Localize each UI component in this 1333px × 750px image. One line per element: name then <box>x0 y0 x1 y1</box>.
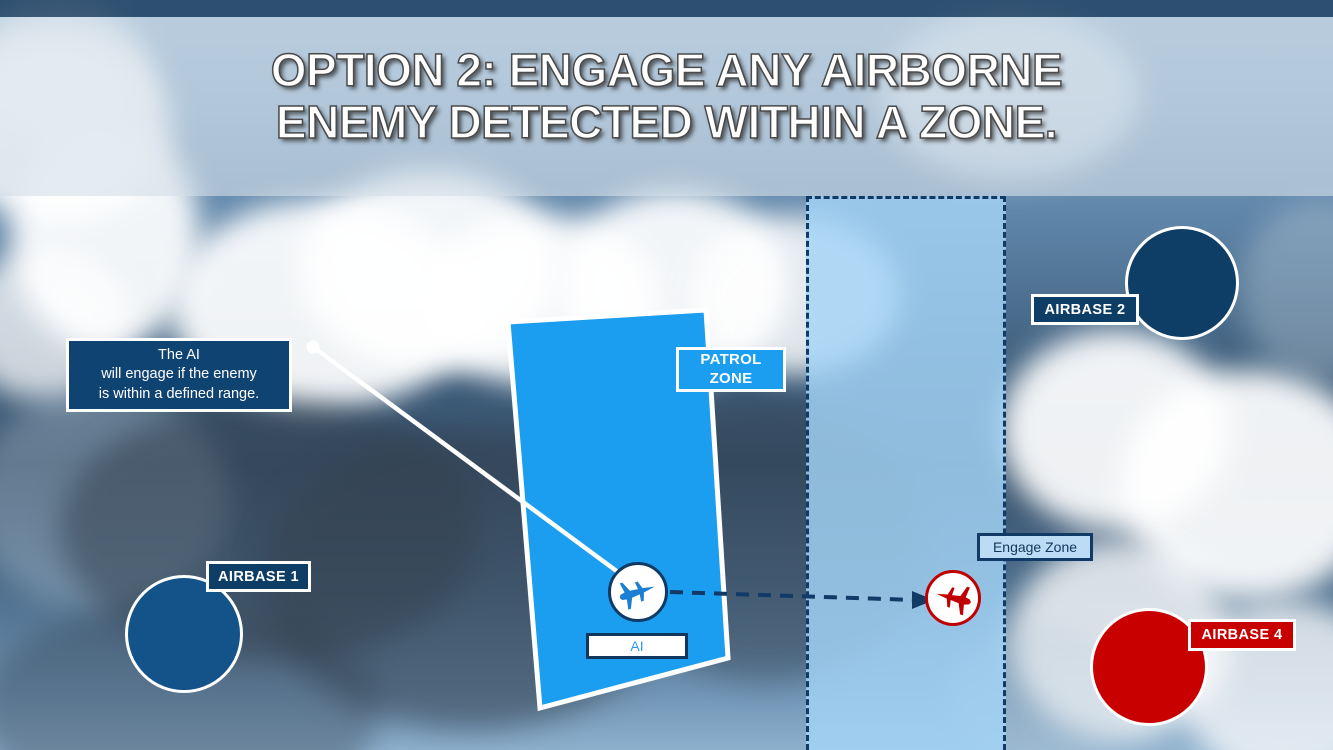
callout-line-1: The AI <box>158 346 200 366</box>
slide-canvas: OPTION 2: ENGAGE ANY AIRBORNE ENEMY DETE… <box>0 0 1333 750</box>
patrol-zone-label: PATROL ZONE <box>676 347 786 392</box>
enemy-aircraft-marker[interactable] <box>925 570 981 626</box>
callout-line-3: is within a defined range. <box>99 385 259 405</box>
title-band <box>0 17 1333 196</box>
ai-label: AI <box>586 633 688 659</box>
fighter-jet-icon <box>615 569 661 615</box>
airbase-2-label: AIRBASE 2 <box>1031 294 1139 325</box>
airbase-1-label: AIRBASE 1 <box>206 561 311 592</box>
callout-line-2: will engage if the enemy <box>101 365 257 385</box>
fighter-jet-icon <box>932 577 974 619</box>
engage-zone-region[interactable] <box>806 196 1006 750</box>
engage-zone-label: Engage Zone <box>977 533 1093 561</box>
top-accent-bar <box>0 0 1333 17</box>
cloud <box>1240 200 1333 380</box>
airbase-4-label: AIRBASE 4 <box>1188 619 1296 651</box>
ai-aircraft-marker[interactable] <box>608 562 668 622</box>
airbase-2-marker[interactable] <box>1125 226 1239 340</box>
callout-box: The AI will engage if the enemy is withi… <box>66 338 292 412</box>
airbase-1-marker[interactable] <box>125 575 243 693</box>
